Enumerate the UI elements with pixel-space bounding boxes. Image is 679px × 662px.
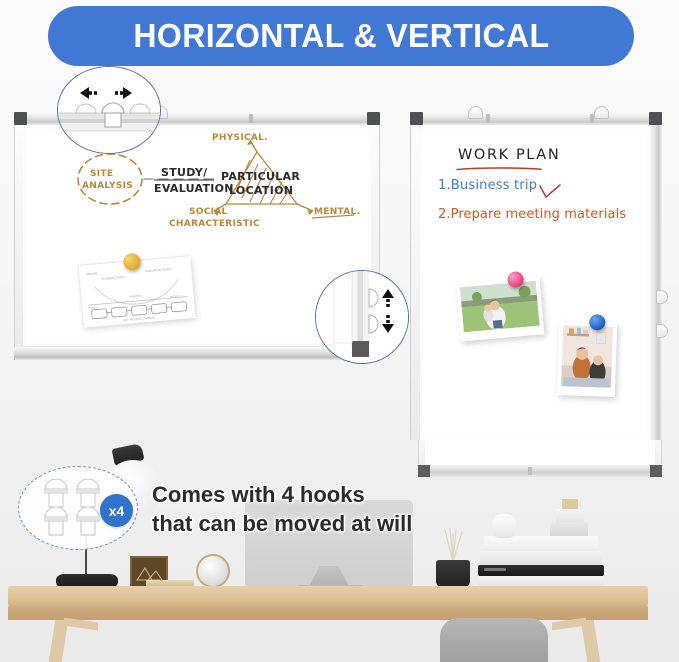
printer-stack	[478, 536, 604, 588]
vertical-board-right-rail	[650, 112, 662, 457]
header-banner: HORIZONTAL & VERTICAL	[48, 6, 634, 66]
work-plan-title: WORK PLAN	[458, 147, 560, 163]
desk-leg-right	[581, 620, 601, 662]
callout-horizontal-diagram	[58, 67, 161, 154]
work-plan-item-1: 1.Business trip	[438, 178, 537, 193]
vertical-board-top-rail	[410, 112, 662, 125]
photo-indoor	[557, 321, 618, 397]
hook-count-badge: x4	[100, 494, 133, 527]
corner-cap-top-left	[410, 112, 423, 125]
paper-handout: TIMELINE PLANNING PHASE EVALUATION RESUL…	[78, 255, 195, 327]
photo-image	[561, 325, 613, 388]
checkmark-icon	[538, 184, 562, 200]
desk-leg-left	[49, 620, 69, 662]
reed-diffuser-sticks	[438, 528, 468, 562]
pen-tray	[14, 347, 380, 360]
hooks-caption-line-1: Comes with 4 hooks	[152, 480, 412, 509]
tray-notch	[486, 114, 490, 123]
callout-vertical-diagram	[316, 271, 409, 364]
plant-pot	[436, 560, 470, 588]
work-plan-underline	[456, 167, 542, 171]
callout-vertical-hooks	[315, 270, 409, 364]
desk-edge	[8, 606, 648, 620]
photo-family-outdoor	[456, 276, 545, 341]
callout-horizontal-hooks	[57, 66, 161, 154]
hook-icon[interactable]	[468, 106, 483, 119]
corner-cap-top-right	[367, 112, 380, 125]
round-decor-object	[196, 554, 230, 588]
corner-cap-top-left	[14, 112, 27, 125]
corner-cap-top-right	[649, 112, 662, 125]
desk-top	[8, 586, 648, 606]
wall-whiteboard-partial	[418, 440, 662, 477]
hooks-feature-caption: Comes with 4 hooks that can be moved at …	[152, 480, 412, 538]
photo-image	[460, 281, 540, 332]
hook-icon[interactable]	[594, 106, 609, 119]
vertical-whiteboard: WORK PLAN 1.Business trip 2.Prepare meet…	[410, 112, 662, 457]
banner-title: HORIZONTAL & VERTICAL	[133, 17, 549, 55]
work-plan-item-2: 2.Prepare meeting materials	[438, 207, 626, 222]
product-image-stage: HORIZONTAL & VERTICAL	[0, 0, 679, 662]
office-chair	[440, 618, 548, 662]
hooks-caption-line-2: that can be moved at will	[152, 509, 412, 538]
tray-notch	[590, 114, 594, 123]
tray-notch	[249, 114, 253, 123]
